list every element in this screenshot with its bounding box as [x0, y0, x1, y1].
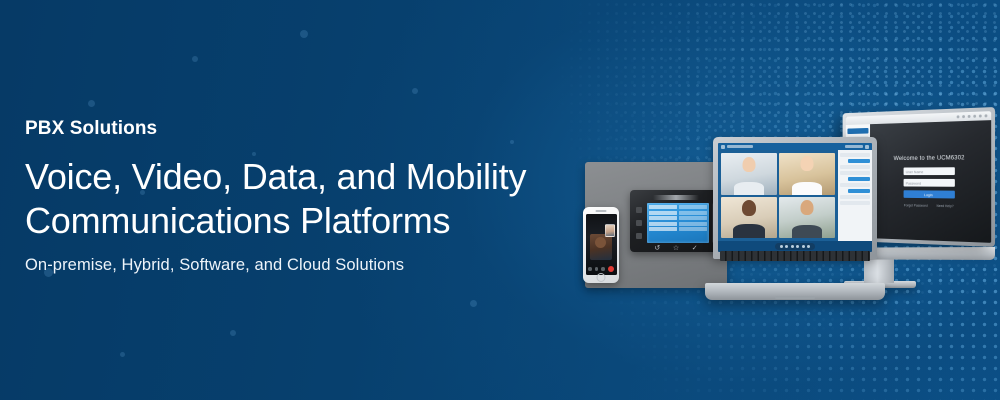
phone-call-icon[interactable]: ✓ [692, 245, 698, 252]
browser-control-dot [979, 114, 982, 117]
lcd-row [649, 227, 707, 231]
chat-message-own [848, 189, 870, 193]
phone-back-icon[interactable]: ↺ [654, 245, 660, 252]
lcd-row [649, 222, 707, 226]
login-links: Forgot Password Need Help? [904, 204, 954, 209]
video-call-self-view [605, 224, 615, 237]
phone-line-key[interactable] [636, 220, 642, 226]
camera-icon[interactable] [595, 267, 599, 271]
login-button[interactable]: Login [903, 190, 954, 198]
banner-headline: Voice, Video, Data, and Mobility Communi… [25, 155, 585, 243]
ucm-logo [847, 128, 868, 134]
device-group: Welcome to the UCM6302 User Name Passwor… [575, 95, 1000, 310]
end-call-button[interactable] [608, 266, 614, 272]
hero-banner: PBX Solutions Voice, Video, Data, and Mo… [0, 0, 1000, 400]
laptop-keyboard[interactable] [720, 251, 870, 261]
laptop-screen [718, 143, 872, 252]
more-options-icon[interactable] [807, 245, 810, 248]
chat-message-own [848, 177, 870, 181]
banner-subcopy: On-premise, Hybrid, Software, and Cloud … [25, 256, 585, 275]
laptop-lid [713, 137, 877, 259]
laptop [705, 137, 885, 300]
password-placeholder: Password [906, 180, 921, 185]
smartphone-screen [586, 214, 617, 275]
laptop-base [705, 283, 885, 300]
lcd-row [649, 205, 707, 209]
lcd-row [649, 211, 707, 215]
video-call-controls[interactable] [586, 266, 617, 272]
phone-lcd-screen [647, 203, 709, 243]
ucm-welcome-text: Welcome to the UCM6302 [894, 154, 965, 162]
banner-eyebrow: PBX Solutions [25, 118, 585, 141]
chat-message [840, 183, 870, 187]
chat-message [840, 171, 870, 175]
participants-icon[interactable] [796, 245, 799, 248]
chat-icon[interactable] [802, 245, 805, 248]
participant-tile[interactable] [779, 197, 835, 239]
chat-message [840, 195, 870, 199]
phone-line-key[interactable] [636, 233, 642, 239]
control-pill[interactable] [775, 243, 816, 250]
conference-toolbar[interactable] [718, 143, 872, 150]
conference-body [718, 150, 872, 241]
app-menu-icon[interactable] [721, 145, 725, 149]
forgot-password-link[interactable]: Forgot Password [904, 204, 928, 208]
ucm-login-stage: Welcome to the UCM6302 User Name Passwor… [870, 120, 991, 243]
phone-softkeys[interactable]: ↺ ☆ ✓ [636, 243, 716, 254]
speaker-icon[interactable] [601, 267, 605, 271]
browser-control-dot [957, 115, 960, 118]
phone-line-key[interactable] [636, 207, 642, 213]
mute-icon[interactable] [588, 267, 592, 271]
phone-body [636, 203, 716, 243]
conference-title [727, 145, 753, 148]
browser-control-dot [968, 115, 971, 118]
need-help-link[interactable]: Need Help? [936, 204, 953, 208]
chat-message [840, 153, 870, 157]
participant-grid [718, 150, 838, 241]
conference-timer [845, 145, 863, 148]
password-field[interactable]: Password [903, 179, 954, 187]
username-field[interactable]: User Name [903, 167, 954, 175]
browser-control-dot [985, 114, 988, 117]
phone-home-icon[interactable]: ☆ [673, 245, 679, 252]
participant-tile[interactable] [779, 153, 835, 195]
browser-control-dot [962, 115, 965, 118]
share-screen-icon[interactable] [791, 245, 794, 248]
browser-control-dot [973, 115, 976, 118]
video-call-main-participant [590, 234, 612, 260]
phone-line-keys[interactable] [636, 203, 644, 243]
microphone-icon[interactable] [780, 245, 783, 248]
settings-icon[interactable] [865, 145, 869, 149]
chat-panel[interactable] [838, 150, 872, 241]
login-button-label: Login [924, 192, 933, 197]
banner-copy: PBX Solutions Voice, Video, Data, and Mo… [25, 118, 585, 275]
participant-tile[interactable] [721, 153, 777, 195]
chat-message-own [848, 159, 870, 163]
participant-tile[interactable] [721, 197, 777, 239]
chat-message [840, 201, 870, 205]
phone-brand-logo [653, 195, 699, 200]
username-placeholder: User Name [906, 169, 924, 174]
smartphone [583, 207, 619, 283]
lcd-row [649, 216, 707, 220]
camera-icon[interactable] [785, 245, 788, 248]
chat-message [840, 165, 870, 169]
